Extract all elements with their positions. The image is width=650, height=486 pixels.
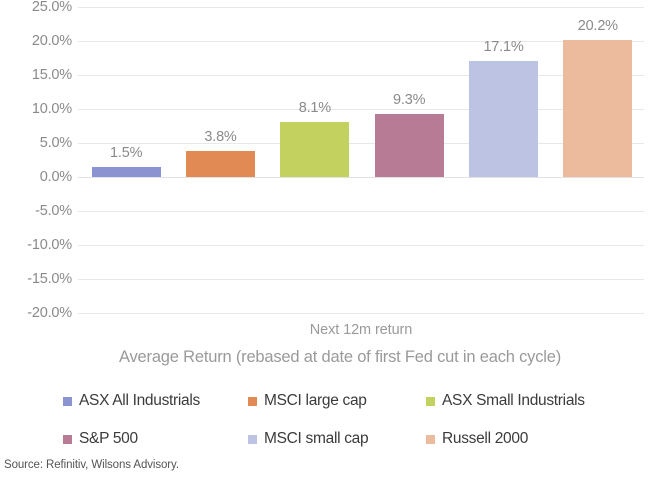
bar-value-label: 17.1%	[457, 39, 550, 55]
y-axis-tick-label: 5.0%	[0, 135, 72, 151]
bars-layer: 1.5%3.8%8.1%9.3%17.1%20.2%	[78, 7, 644, 313]
legend: ASX All IndustrialsMSCI large capASX Sma…	[0, 392, 650, 454]
y-axis-tick-label: -5.0%	[0, 203, 72, 219]
legend-swatch-icon	[63, 435, 72, 444]
bar-value-label: 20.2%	[551, 18, 644, 34]
legend-item[interactable]: MSCI large cap	[248, 392, 367, 410]
gridline	[78, 313, 644, 314]
bar-value-label: 1.5%	[80, 145, 173, 161]
legend-label: MSCI small cap	[264, 430, 368, 448]
bar-value-label: 3.8%	[174, 129, 267, 145]
legend-item[interactable]: Russell 2000	[426, 430, 528, 448]
category-axis-label: Next 12m return	[78, 322, 644, 338]
legend-item[interactable]: ASX All Industrials	[63, 392, 200, 410]
legend-swatch-icon	[426, 435, 435, 444]
bar[interactable]	[92, 167, 161, 177]
y-axis-tick-label: -15.0%	[0, 271, 72, 287]
legend-label: ASX Small Industrials	[442, 392, 585, 410]
legend-item[interactable]: ASX Small Industrials	[426, 392, 585, 410]
y-axis-tick-label: 25.0%	[0, 0, 72, 15]
bar-chart: 25.0%20.0%15.0%10.0%5.0%0.0%-5.0%-10.0%-…	[0, 0, 650, 486]
legend-swatch-icon	[426, 397, 435, 406]
source-note: Source: Refinitiv, Wilsons Advisory.	[4, 459, 179, 471]
bar-value-label: 8.1%	[268, 100, 361, 116]
y-axis-tick-label: 20.0%	[0, 33, 72, 49]
bar[interactable]	[280, 122, 349, 177]
bar[interactable]	[469, 61, 538, 177]
x-axis-title: Average Return (rebased at date of first…	[40, 348, 640, 367]
legend-item[interactable]: MSCI small cap	[248, 430, 368, 448]
y-axis-tick-label: -20.0%	[0, 305, 72, 321]
y-axis-tick-label: -10.0%	[0, 237, 72, 253]
bar[interactable]	[186, 151, 255, 177]
y-axis-tick-label: 15.0%	[0, 67, 72, 83]
bar[interactable]	[375, 114, 444, 177]
legend-label: MSCI large cap	[264, 392, 367, 410]
bar-value-label: 9.3%	[363, 92, 456, 108]
y-axis-tick-label: 10.0%	[0, 101, 72, 117]
legend-label: Russell 2000	[442, 430, 528, 448]
legend-swatch-icon	[63, 397, 72, 406]
bar[interactable]	[563, 40, 632, 177]
legend-swatch-icon	[248, 397, 257, 406]
legend-swatch-icon	[248, 435, 257, 444]
legend-label: ASX All Industrials	[79, 392, 200, 410]
y-axis-tick-label: 0.0%	[0, 169, 72, 185]
legend-item[interactable]: S&P 500	[63, 430, 138, 448]
y-axis: 25.0%20.0%15.0%10.0%5.0%0.0%-5.0%-10.0%-…	[0, 7, 72, 313]
legend-label: S&P 500	[79, 430, 138, 448]
